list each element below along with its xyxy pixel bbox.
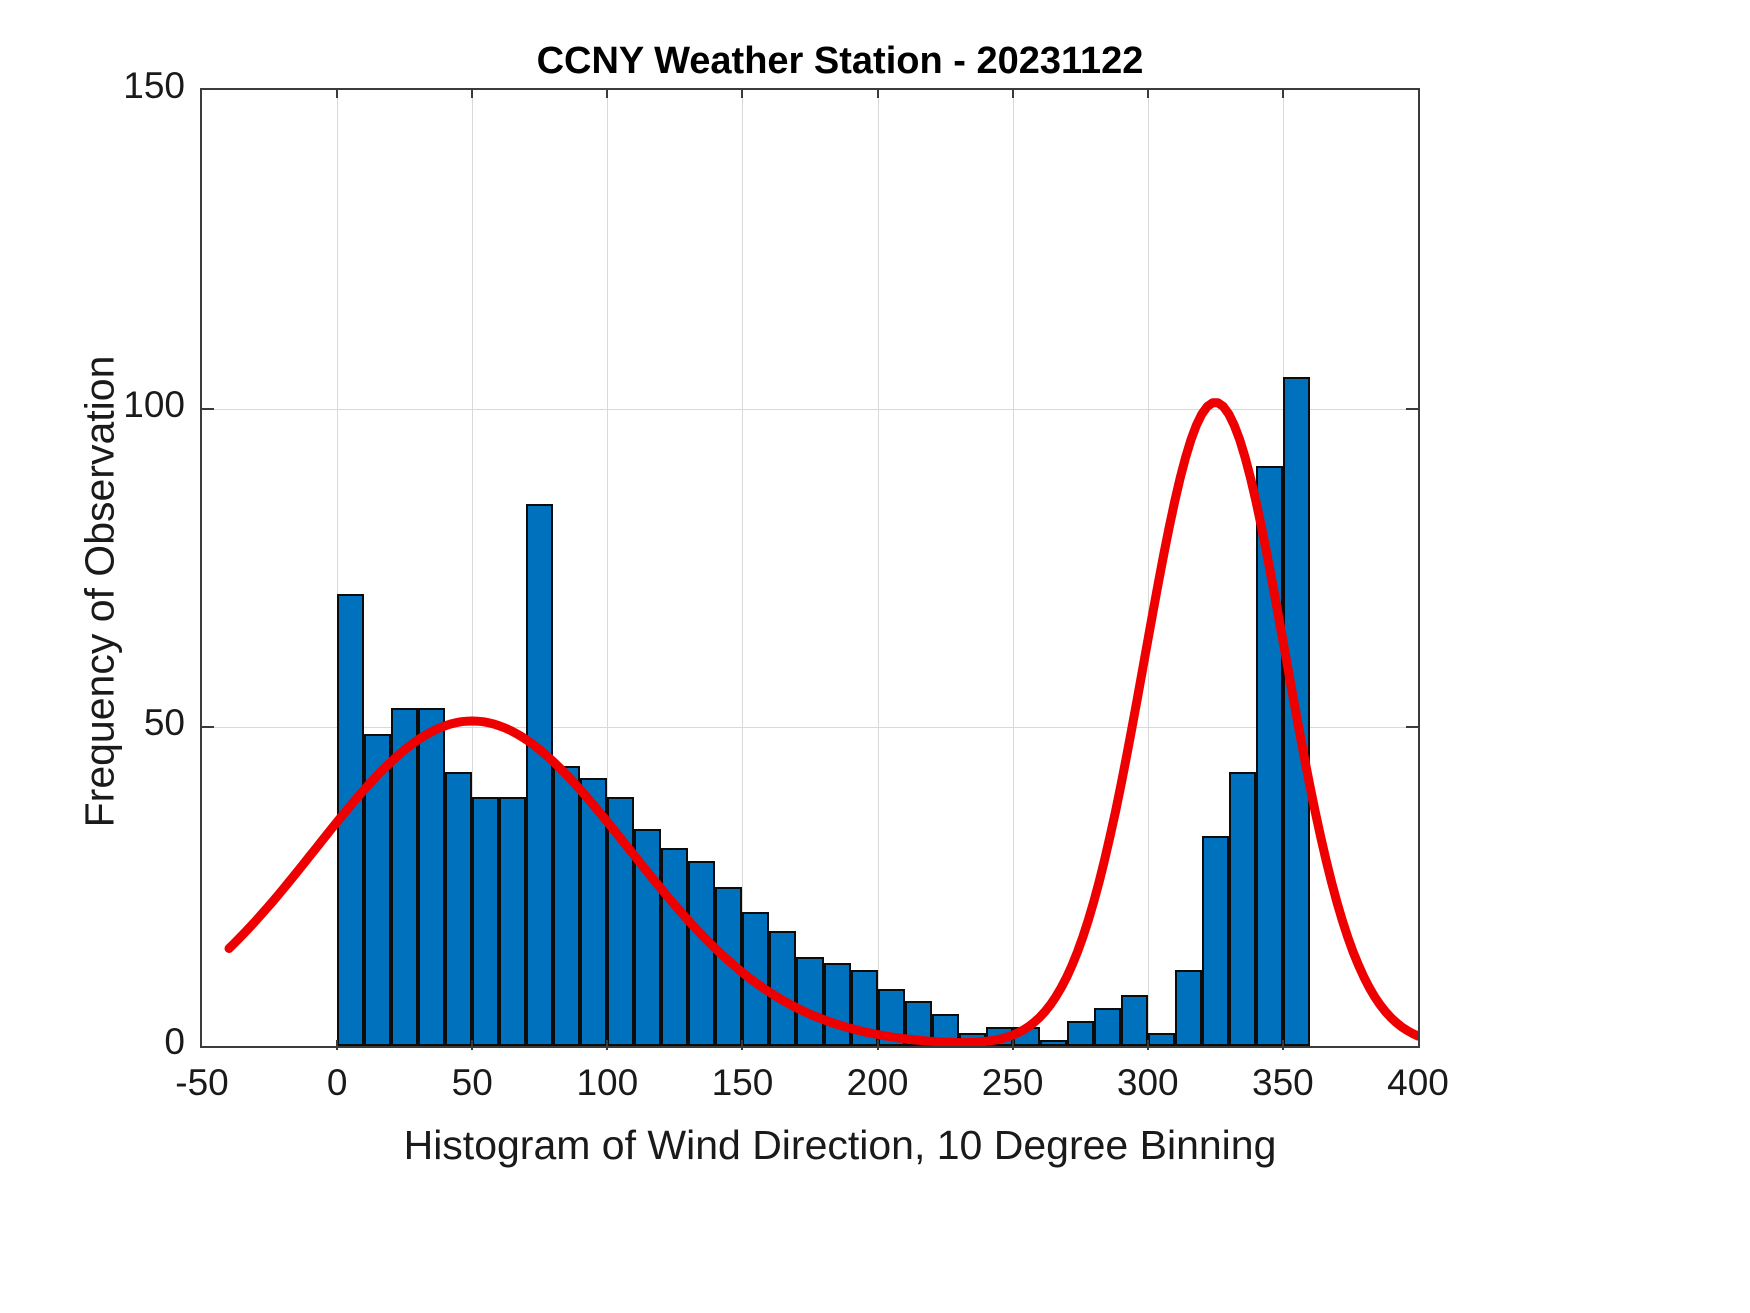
x-axis-label: Histogram of Wind Direction, 10 Degree B… bbox=[0, 1122, 1750, 1169]
fitted-curve-path bbox=[229, 403, 1418, 1043]
x-tick-mark-150 bbox=[741, 1040, 743, 1050]
x-tick-mark-50 bbox=[471, 1040, 473, 1050]
x-tick-mark-250 bbox=[1012, 1040, 1014, 1050]
x-tick-mark-100 bbox=[606, 1040, 608, 1050]
y-tick-mark-100 bbox=[1406, 408, 1420, 410]
x-tick-mark-200 bbox=[877, 1040, 879, 1050]
plot-area bbox=[200, 88, 1420, 1048]
x-tick-mark-top-250 bbox=[1012, 88, 1014, 98]
figure-canvas: CCNY Weather Station - 20231122 05010015… bbox=[0, 0, 1750, 1313]
y-tick-mark-100 bbox=[200, 408, 214, 410]
y-tick-label-150: 150 bbox=[40, 65, 185, 107]
x-tick-label-400: 400 bbox=[1338, 1062, 1498, 1104]
x-tick-mark-top-350 bbox=[1282, 88, 1284, 98]
chart-title: CCNY Weather Station - 20231122 bbox=[0, 40, 1750, 83]
x-tick-mark-top-200 bbox=[877, 88, 879, 98]
y-tick-mark-50 bbox=[1406, 726, 1420, 728]
x-tick-mark-300 bbox=[1147, 1040, 1149, 1050]
x-tick-mark-top-100 bbox=[606, 88, 608, 98]
x-tick-mark-0 bbox=[336, 1040, 338, 1050]
y-axis-label: Frequency of Observation bbox=[77, 192, 124, 992]
x-tick-mark-top-150 bbox=[741, 88, 743, 98]
x-tick-mark-top-50 bbox=[471, 88, 473, 98]
x-tick-mark-top-0 bbox=[336, 88, 338, 98]
fitted-curve bbox=[202, 90, 1418, 1046]
x-tick-mark-350 bbox=[1282, 1040, 1284, 1050]
y-tick-mark-50 bbox=[200, 726, 214, 728]
y-tick-label-0: 0 bbox=[40, 1021, 185, 1063]
chart-title-text: CCNY Weather Station - 20231122 bbox=[537, 40, 1144, 83]
x-tick-mark-top-300 bbox=[1147, 88, 1149, 98]
x-axis-label-text: Histogram of Wind Direction, 10 Degree B… bbox=[404, 1122, 1277, 1169]
